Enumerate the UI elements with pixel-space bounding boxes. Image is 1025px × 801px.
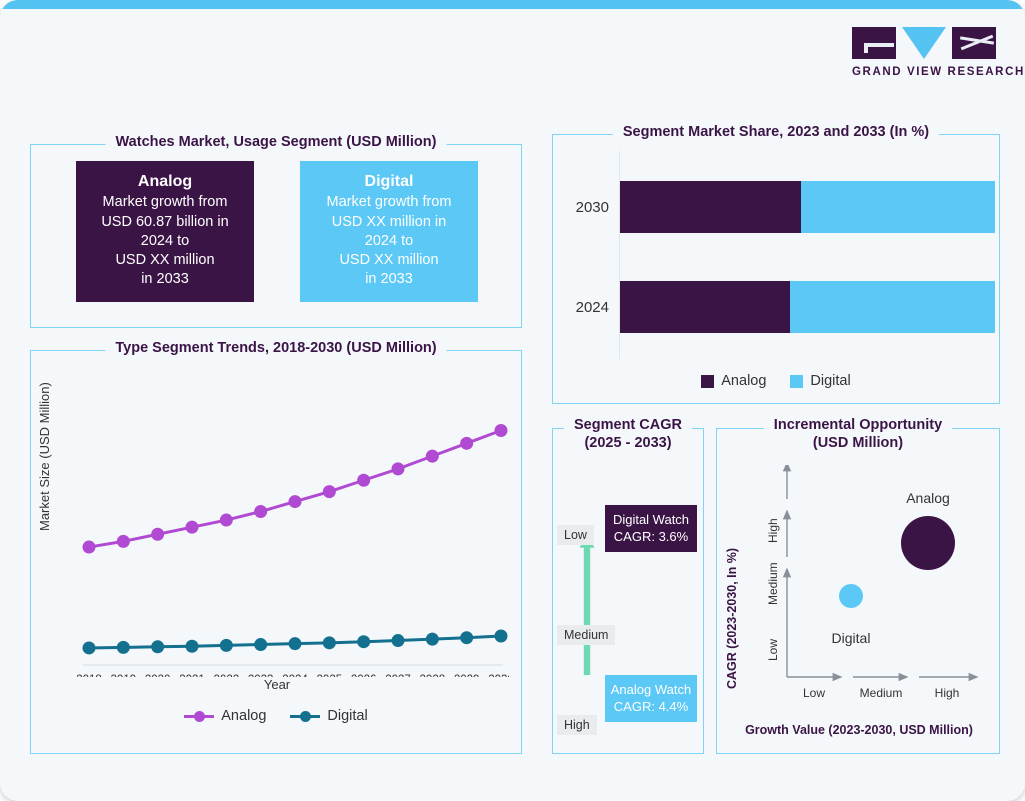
logo-marks — [852, 27, 1002, 59]
share-category-label: 2024 — [569, 299, 609, 316]
legend-item-analog[interactable]: Analog — [701, 373, 766, 389]
legend-item-analog[interactable]: Analog — [184, 708, 266, 724]
usage-box-digital-line3: 2024 to — [365, 233, 413, 249]
data-point[interactable] — [220, 639, 233, 652]
opportunity-point-label-digital: Digital — [832, 630, 871, 646]
grand-view-research-logo: GRAND VIEW RESEARCH — [852, 27, 1002, 79]
data-point[interactable] — [426, 633, 439, 646]
legend-swatch-analog-icon — [701, 375, 714, 388]
segment-market-share-title: Segment Market Share, 2023 and 2033 (In … — [613, 123, 939, 141]
cagr-up-arrow-icon — [579, 477, 595, 732]
usage-box-analog-line2: USD 60.87 billion in — [101, 214, 228, 230]
share-segment-digital — [801, 181, 995, 233]
segment-market-share-panel: Segment Market Share, 2023 and 2033 (In … — [552, 134, 1000, 404]
usage-box-analog-line5: in 2033 — [141, 271, 189, 287]
logo-letter-r-icon — [952, 27, 996, 59]
table-row: 2030 — [569, 181, 995, 233]
data-point[interactable] — [357, 635, 370, 648]
data-point[interactable] — [254, 505, 267, 518]
segment-cagr-panel: Segment CAGR (2025 - 2033) Low Medium Hi… — [552, 428, 704, 754]
data-point[interactable] — [426, 450, 439, 463]
cagr-scale-medium: Medium — [557, 625, 615, 645]
cagr-box-digital-watch: Digital Watch CAGR: 3.6% — [605, 505, 697, 552]
data-point[interactable] — [151, 640, 164, 653]
usage-box-digital: Digital Market growth from USD XX millio… — [300, 161, 478, 302]
logo-letter-v-icon — [902, 27, 946, 59]
data-point[interactable] — [117, 535, 130, 548]
usage-segment-boxes: Analog Market growth from USD 60.87 bill… — [31, 161, 523, 302]
share-stacked-bar — [619, 181, 995, 233]
data-point[interactable] — [460, 631, 473, 644]
share-segment-digital — [790, 281, 995, 333]
data-point[interactable] — [186, 640, 199, 653]
share-stacked-bar — [619, 281, 995, 333]
trend-series-points-digital — [83, 630, 508, 655]
data-point[interactable] — [323, 485, 336, 498]
usage-box-analog-line4: USD XX million — [115, 252, 214, 268]
cagr-scale-low: Low — [557, 525, 594, 545]
data-point[interactable] — [186, 521, 199, 534]
opportunity-y-axis-label: CAGR (2023-2030, In %) — [725, 548, 739, 689]
usage-box-digital-line4: USD XX million — [339, 252, 438, 268]
infographic-page: GRAND VIEW RESEARCH Watches Market, Usag… — [0, 0, 1025, 801]
usage-box-digital-line1: Market growth from — [327, 194, 452, 210]
opportunity-scatter-chart: Low Medium High Low Medium High Analog D… — [741, 465, 993, 717]
cagr-box-digital-name: Digital Watch — [613, 512, 689, 527]
legend-item-digital[interactable]: Digital — [790, 373, 850, 389]
legend-label-analog: Analog — [721, 373, 766, 389]
incremental-opportunity-title-line1: Incremental Opportunity — [774, 417, 942, 433]
segment-cagr-title-line2: (2025 - 2033) — [584, 435, 671, 451]
cagr-scale-high: High — [557, 715, 597, 735]
incremental-opportunity-title-line2: (USD Million) — [813, 435, 903, 451]
data-point[interactable] — [117, 641, 130, 654]
trend-x-axis-label: Year — [31, 677, 523, 692]
trend-y-axis-label: Market Size (USD Million) — [37, 382, 52, 531]
cagr-box-digital-value: CAGR: 3.6% — [614, 529, 688, 544]
usage-box-analog: Analog Market growth from USD 60.87 bill… — [76, 161, 254, 302]
trend-line-chart: 2018201920202021202220232024202520262027… — [57, 377, 509, 677]
svg-text:High: High — [766, 518, 780, 543]
usage-box-digital-line2: USD XX million in — [332, 214, 446, 230]
data-point[interactable] — [495, 630, 508, 643]
cagr-box-analog-name: Analog Watch — [611, 682, 691, 697]
usage-segment-title: Watches Market, Usage Segment (USD Milli… — [106, 133, 447, 151]
usage-box-analog-line1: Market growth from — [103, 194, 228, 210]
logo-letter-g-icon — [852, 27, 896, 59]
cagr-box-analog-watch: Analog Watch CAGR: 4.4% — [605, 675, 697, 722]
data-point[interactable] — [323, 636, 336, 649]
top-accent-bar — [0, 0, 1025, 9]
share-category-label: 2030 — [569, 199, 609, 216]
share-legend: Analog Digital — [553, 373, 999, 389]
data-point[interactable] — [289, 495, 302, 508]
legend-line-analog-icon — [184, 715, 214, 718]
usage-box-digital-line5: in 2033 — [365, 271, 413, 287]
legend-label-digital: Digital — [327, 708, 367, 724]
legend-swatch-digital-icon — [790, 375, 803, 388]
share-segment-analog — [620, 181, 801, 233]
data-point[interactable] — [151, 528, 164, 541]
usage-box-analog-name: Analog — [82, 171, 248, 192]
cagr-box-analog-value: CAGR: 4.4% — [614, 699, 688, 714]
logo-wordmark: GRAND VIEW RESEARCH — [852, 66, 1002, 78]
legend-label-analog: Analog — [221, 708, 266, 724]
opportunity-point-digital[interactable] — [839, 584, 863, 608]
data-point[interactable] — [220, 514, 233, 527]
data-point[interactable] — [83, 641, 96, 654]
svg-text:Medium: Medium — [766, 562, 780, 605]
opportunity-x-axis-label: Growth Value (2023-2030, USD Million) — [717, 723, 1001, 737]
svg-text:High: High — [935, 686, 960, 700]
usage-segment-panel: Watches Market, Usage Segment (USD Milli… — [30, 144, 522, 328]
segment-cagr-title-line1: Segment CAGR — [574, 417, 682, 433]
legend-label-digital: Digital — [810, 373, 850, 389]
legend-item-digital[interactable]: Digital — [290, 708, 367, 724]
data-point[interactable] — [83, 541, 96, 554]
data-point[interactable] — [289, 637, 302, 650]
usage-box-digital-name: Digital — [306, 171, 472, 192]
opportunity-point-analog[interactable] — [901, 516, 955, 570]
opportunity-point-label-analog: Analog — [906, 490, 950, 506]
table-row: 2024 — [569, 281, 995, 333]
trend-series-line-analog — [89, 431, 501, 548]
data-point[interactable] — [357, 474, 370, 487]
segment-cagr-title: Segment CAGR (2025 - 2033) — [564, 416, 692, 452]
svg-text:Low: Low — [766, 639, 780, 661]
data-point[interactable] — [392, 462, 405, 475]
legend-line-digital-icon — [290, 715, 320, 718]
type-segment-trends-panel: Type Segment Trends, 2018-2030 (USD Mill… — [30, 350, 522, 754]
trend-series-points-analog — [83, 424, 508, 554]
incremental-opportunity-title: Incremental Opportunity (USD Million) — [764, 416, 952, 452]
svg-text:Medium: Medium — [860, 686, 903, 700]
svg-text:Low: Low — [803, 686, 825, 700]
data-point[interactable] — [495, 424, 508, 437]
share-segment-analog — [620, 281, 790, 333]
trend-legend: Analog Digital — [31, 708, 521, 724]
data-point[interactable] — [460, 437, 473, 450]
type-segment-trends-title: Type Segment Trends, 2018-2030 (USD Mill… — [105, 339, 446, 357]
data-point[interactable] — [254, 638, 267, 651]
data-point[interactable] — [392, 634, 405, 647]
incremental-opportunity-panel: Incremental Opportunity (USD Million) CA… — [716, 428, 1000, 754]
usage-box-analog-line3: 2024 to — [141, 233, 189, 249]
